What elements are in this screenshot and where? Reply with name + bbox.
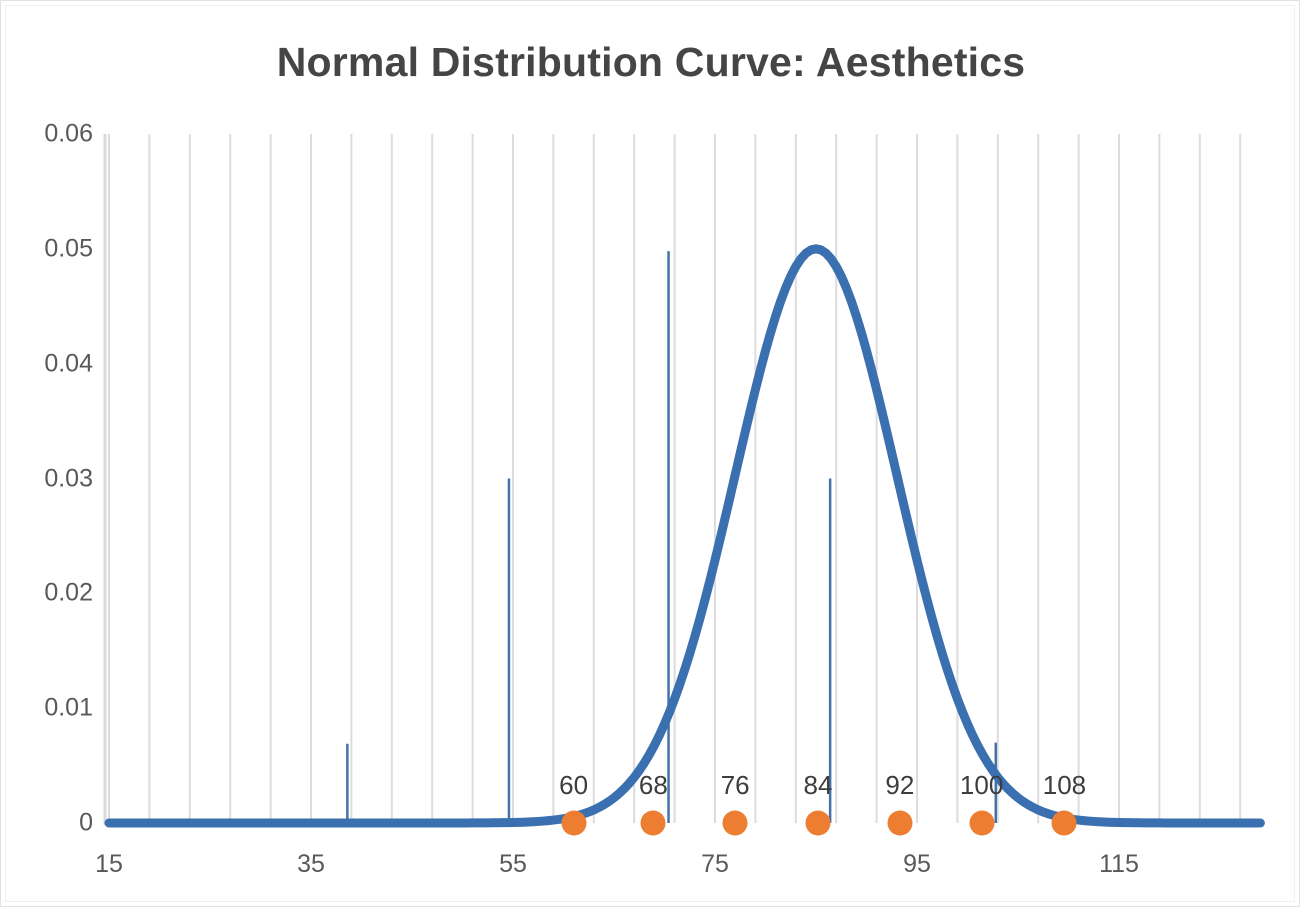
normal-curve-line	[109, 249, 1260, 823]
x-axis-tick-label: 95	[903, 850, 931, 879]
data-point-label: 60	[559, 770, 588, 801]
chart-image: Normal Distribution Curve: Aesthetics 00…	[0, 0, 1300, 907]
data-point-marker	[1052, 811, 1077, 836]
data-point-label: 68	[639, 770, 668, 801]
data-point-label: 108	[1043, 770, 1086, 801]
data-point-label: 92	[885, 770, 914, 801]
data-point-marker	[561, 811, 586, 836]
data-point-marker	[641, 811, 666, 836]
x-axis-tick-label: 115	[1099, 850, 1139, 879]
data-point-label: 76	[721, 770, 750, 801]
x-axis-tick-label: 15	[95, 850, 123, 879]
data-point-marker	[806, 811, 831, 836]
x-axis-tick-label: 55	[499, 850, 527, 879]
data-point-marker	[969, 811, 994, 836]
data-point-label: 100	[960, 770, 1003, 801]
x-axis-tick-label: 35	[297, 850, 325, 879]
data-point-label: 84	[804, 770, 833, 801]
x-axis-tick-label: 75	[701, 850, 729, 879]
data-point-marker	[887, 811, 912, 836]
data-point-marker	[723, 811, 748, 836]
